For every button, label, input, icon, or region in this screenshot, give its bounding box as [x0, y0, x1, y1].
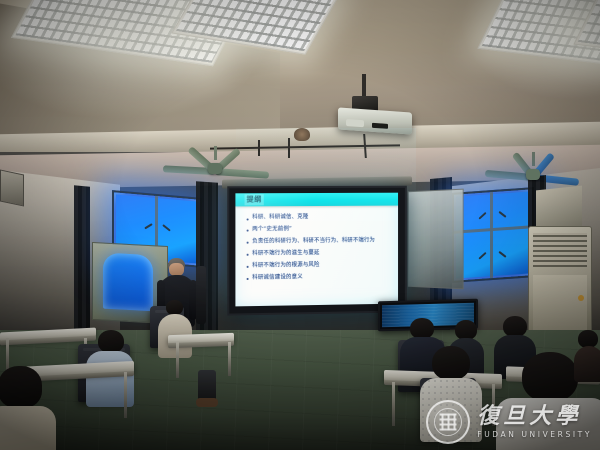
- fan-rod: [214, 146, 217, 160]
- floor-air-conditioner: [528, 226, 592, 338]
- door-window: [103, 253, 153, 312]
- curtain-left-a: [74, 185, 90, 336]
- person-hair: [503, 316, 527, 337]
- window-glass: [456, 191, 530, 278]
- bullet-dot-icon: [247, 242, 249, 244]
- person-torso: [574, 346, 600, 382]
- bullet-dot-icon: [247, 230, 249, 232]
- window-mullion-vertical: [490, 192, 493, 278]
- slide-bullet-text: 两个“史无前例”: [252, 226, 292, 233]
- slide-bullet-text: 科研、科研诚信、克隆: [252, 214, 308, 221]
- ac-upper-duct: [536, 186, 582, 231]
- desk-leg: [492, 384, 495, 426]
- fan-hub: [526, 169, 540, 180]
- ac-grille: [533, 233, 587, 267]
- slide-bullet-text: 负责任的科研行为、科研不当行为、科研不端行为: [252, 237, 375, 245]
- ac-panel: [533, 275, 587, 331]
- person-torso: [496, 398, 600, 450]
- person-torso: [0, 406, 56, 450]
- ceiling-wire-2: [258, 140, 260, 156]
- slide-bullet-item: 科研不端行为的根源与风险: [247, 261, 392, 269]
- fan-hub: [208, 163, 222, 174]
- projector-lens: [346, 119, 364, 127]
- presentation-slide: 提纲 科研、科研诚信、克隆 两个“史无前例” 负责任的科研行为、科研不当行为、科…: [235, 193, 398, 307]
- person-hair: [0, 366, 42, 408]
- ac-control-knob[interactable]: [578, 295, 584, 301]
- window-right: [452, 187, 534, 283]
- person-hair: [522, 352, 578, 402]
- slide-bullet-item: 负责任的科研行为、科研不当行为、科研不端行为: [247, 237, 392, 245]
- fan-blade: [215, 168, 269, 179]
- audience-member: [420, 346, 482, 440]
- slide-bullet-text: 科研不端行为的根源与风险: [252, 262, 319, 269]
- audience-member: [0, 366, 52, 450]
- slide-bullet-item: 科研诚信建设的意义: [247, 273, 392, 281]
- bullet-dot-icon: [247, 266, 249, 268]
- bullet-dot-icon: [247, 278, 249, 280]
- person-shirt-pattern: [420, 378, 482, 442]
- fan-rod: [532, 152, 535, 166]
- wall-speaker: [0, 169, 24, 206]
- desk-leg: [392, 382, 395, 426]
- person-hair: [166, 300, 183, 315]
- ceiling-mount-bracket: [294, 128, 310, 141]
- slide-title-bar: 提纲: [235, 193, 398, 207]
- desk-leg: [124, 372, 127, 418]
- slide-bullet-text: 科研不端行为的滋生与蔓延: [252, 250, 319, 257]
- person-hair: [455, 320, 477, 340]
- slide-bullet-text: 科研诚信建设的意义: [252, 274, 303, 281]
- classroom-photo: 提纲 科研、科研诚信、克隆 两个“史无前例” 负责任的科研行为、科研不当行为、科…: [0, 0, 600, 450]
- audience-member: [574, 330, 600, 378]
- shoe: [196, 398, 218, 407]
- slide-title: 提纲: [245, 194, 264, 205]
- slide-bullet-item: 两个“史无前例”: [247, 225, 392, 233]
- person-hair: [432, 346, 470, 380]
- bullet-dot-icon: [247, 218, 249, 220]
- bullet-dot-icon: [247, 254, 249, 256]
- projector-vent: [372, 123, 388, 129]
- ceiling-fan-left: [160, 158, 270, 178]
- ceiling-wire-3: [288, 138, 290, 158]
- desk-leg: [176, 342, 179, 378]
- slide-bullet-item: 科研不端行为的滋生与蔓延: [247, 249, 392, 257]
- projection-screen: 提纲 科研、科研诚信、克隆 两个“史无前例” 负责任的科研行为、科研不当行为、科…: [227, 186, 407, 316]
- person-hair: [410, 318, 434, 339]
- whiteboard: [408, 189, 464, 290]
- slide-bullet-item: 科研、科研诚信、克隆: [247, 214, 392, 221]
- desk-leg: [228, 342, 231, 376]
- mic-stand: [196, 266, 206, 324]
- person-hair: [98, 330, 124, 353]
- slide-bullet-list: 科研、科研诚信、克隆 两个“史无前例” 负责任的科研行为、科研不当行为、科研不端…: [235, 206, 398, 291]
